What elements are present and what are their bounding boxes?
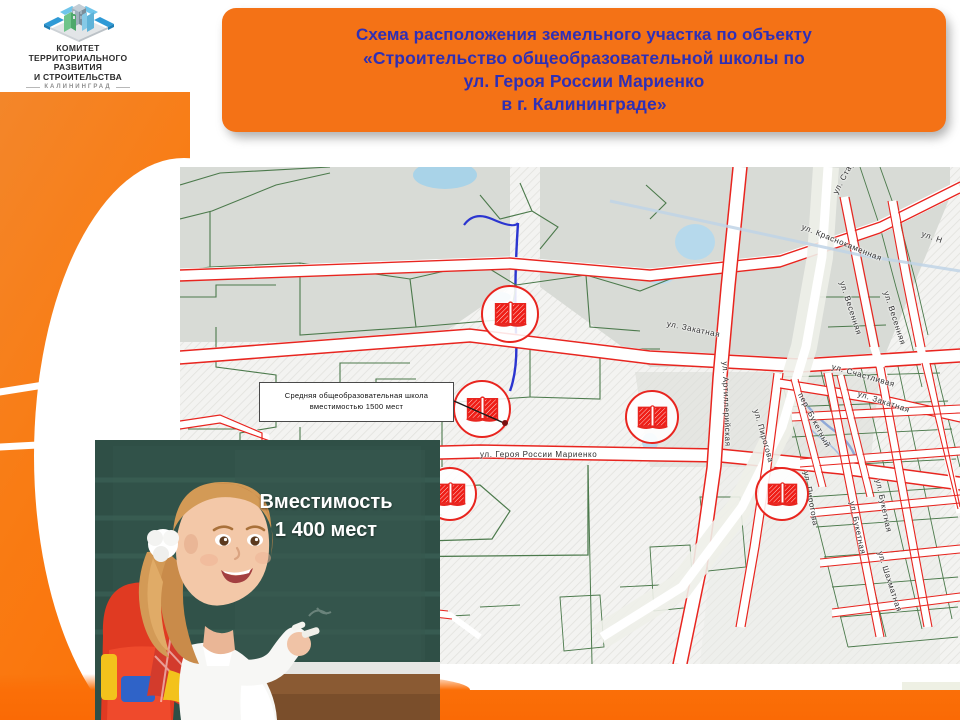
logo-line-3: И СТРОИТЕЛЬСТВА <box>8 73 148 83</box>
open-book-icon <box>494 301 527 328</box>
school-marker-1[interactable] <box>481 285 539 343</box>
title-banner: Схема расположения земельного участка по… <box>222 8 946 132</box>
capacity-caption: Вместимость 1 400 мест <box>226 488 426 545</box>
school-marker-5[interactable] <box>755 467 809 521</box>
title-line-1: Схема расположения земельного участка по… <box>356 24 812 46</box>
schoolgirl-photo-inset: Вместимость 1 400 мест <box>95 440 440 720</box>
slide-canvas: КОМИТЕТ ТЕРРИТОРИАЛЬНОГО РАЗВИТИЯ И СТРО… <box>0 0 960 720</box>
capacity-caption-line-1: Вместимость <box>226 488 426 516</box>
callout-line-2: вместимостью 1500 мест <box>310 402 404 413</box>
school-marker-2[interactable] <box>453 380 511 438</box>
logo-line-2: ТЕРРИТОРИАЛЬНОГО РАЗВИТИЯ <box>8 54 148 73</box>
footer-right-chip <box>902 682 960 690</box>
schoolgirl-photo-illustration <box>95 440 440 720</box>
organization-logo: КОМИТЕТ ТЕРРИТОРИАЛЬНОГО РАЗВИТИЯ И СТРО… <box>8 2 148 94</box>
callout-line-1: Средняя общеобразовательная школа <box>285 391 428 402</box>
logo-text-block: КОМИТЕТ ТЕРРИТОРИАЛЬНОГО РАЗВИТИЯ И СТРО… <box>8 44 148 91</box>
open-book-icon <box>767 482 798 507</box>
capacity-caption-line-2: 1 400 мест <box>226 516 426 544</box>
open-book-icon <box>637 405 668 430</box>
school-callout-box: Средняя общеобразовательная школа вмести… <box>259 382 454 422</box>
school-marker-3[interactable] <box>625 390 679 444</box>
logo-city-label: КАЛИНИНГРАД <box>8 84 148 91</box>
title-line-4: в г. Калининграде» <box>501 93 666 116</box>
open-book-icon <box>466 396 499 423</box>
title-line-3: ул. Героя России Мариенко <box>464 70 705 93</box>
isometric-building-icon <box>42 2 116 46</box>
title-line-2: «Строительство общеобразовательной школы… <box>363 47 805 70</box>
